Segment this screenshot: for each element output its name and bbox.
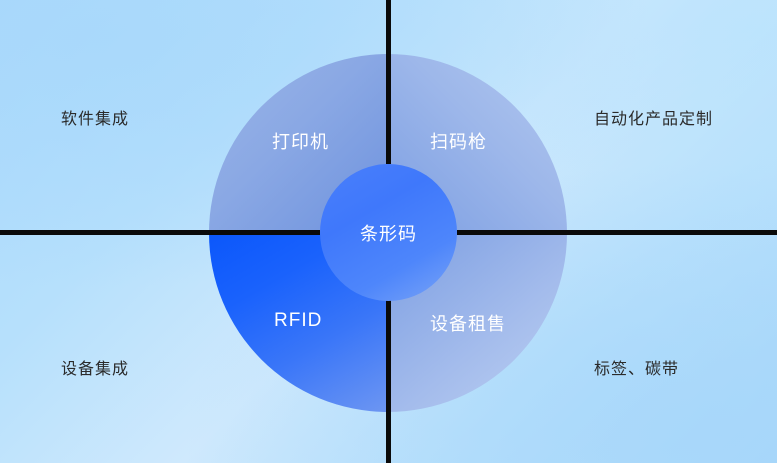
diagram-canvas: 打印机 扫码枪 RFID 设备租售 条形码 软件集成 自动化产品定制 设备集成 … — [0, 0, 777, 463]
segment-label-rfid[interactable]: RFID — [274, 310, 322, 332]
segment-label-scanner[interactable]: 扫码枪 — [430, 128, 487, 154]
outer-label-labels-ribbons: 标签、碳带 — [594, 355, 679, 379]
axis-line-vertical-top — [386, 0, 391, 164]
axis-line-horizontal-right — [457, 230, 777, 235]
segment-label-printer[interactable]: 打印机 — [272, 128, 329, 154]
center-circle-label: 条形码 — [360, 220, 417, 246]
outer-label-software-integration: 软件集成 — [61, 105, 129, 129]
segment-label-rental[interactable]: 设备租售 — [430, 310, 506, 336]
center-circle[interactable]: 条形码 — [320, 164, 457, 301]
outer-label-automation-custom: 自动化产品定制 — [594, 105, 713, 129]
outer-label-device-integration: 设备集成 — [61, 355, 129, 379]
axis-line-horizontal-left — [0, 230, 320, 235]
axis-line-vertical-bottom — [386, 300, 391, 463]
